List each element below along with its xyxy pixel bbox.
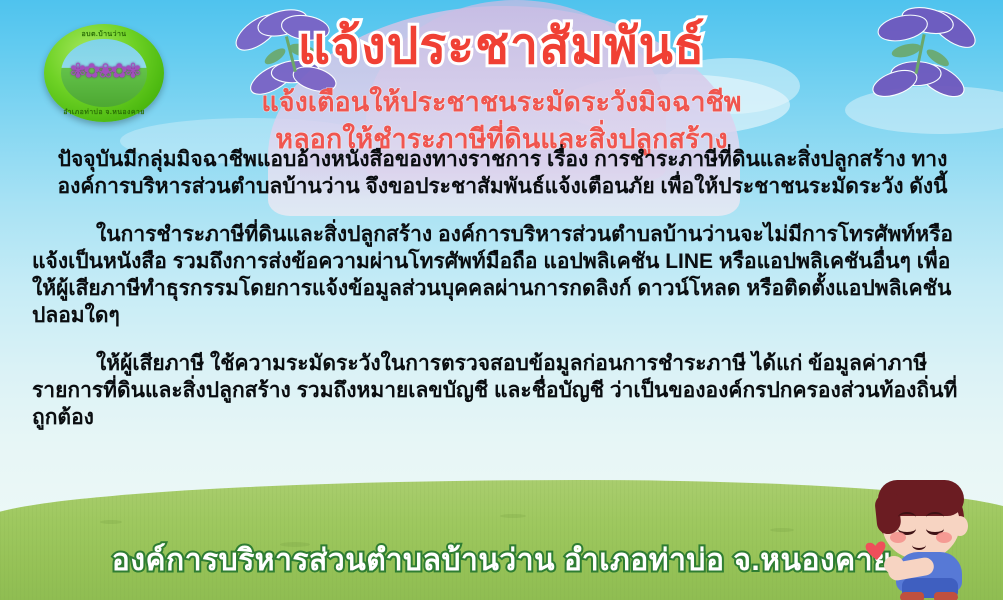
paragraph-advice: ให้ผู้เสียภาษี ใช้ความระมัดระวังในการตรว… — [32, 350, 973, 432]
footer-organization-name: องค์การบริหารส่วนตำบลบ้านว่าน อำเภอท่าบ่… — [0, 537, 1003, 584]
boy-mouth — [912, 540, 926, 550]
boy-cheek-left — [890, 532, 906, 543]
boy-shoe-right — [934, 592, 958, 600]
paragraph-warning: ในการชำระภาษีที่ดินและสิ่งปลูกสร้าง องค์… — [32, 221, 973, 330]
cartoon-boy-icon — [860, 478, 1000, 600]
boy-ear — [952, 516, 968, 536]
boy-cheek-right — [936, 532, 952, 543]
poster-body: ปัจจุบันมีกลุ่มมิจฉาชีพแอบอ้างหนังสือของ… — [32, 146, 973, 432]
poster-title: แจ้งประชาสัมพันธ์ — [0, 20, 1003, 73]
boy-hand — [884, 556, 904, 574]
boy-shoe-left — [900, 592, 924, 600]
paragraph-intro: ปัจจุบันมีกลุ่มมิจฉาชีพแอบอ้างหนังสือของ… — [32, 146, 973, 201]
announcement-poster: อบต.บ้านว่าน ✾✿❀✿✾ อำเภอท่าบ่อ จ.หนองคาย — [0, 0, 1003, 600]
heart-icon — [865, 541, 887, 561]
subtitle-line-1: แจ้งเตือนให้ประชาชนระมัดระวังมิจฉาชีพ — [0, 84, 1003, 121]
